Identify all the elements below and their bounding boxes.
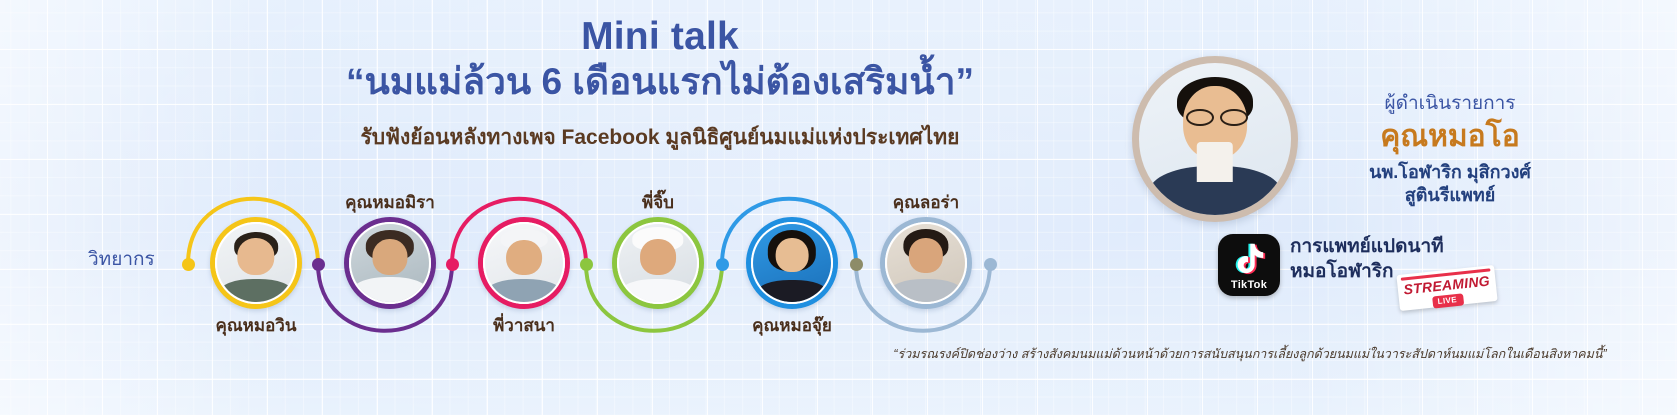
speaker-card-4[interactable]: พี่จิ๊บ xyxy=(612,217,704,309)
timeline-dot-6 xyxy=(850,258,863,271)
speaker-photo-4 xyxy=(617,222,699,304)
host-info-block: ผู้ดำเนินรายการ คุณหมอโอ นพ.โอฬาริก มุสิ… xyxy=(1300,88,1600,207)
speaker-photo-3 xyxy=(483,222,565,304)
timeline-dot-7 xyxy=(984,258,997,271)
speaker-card-5[interactable]: คุณหมอจุ๊ย xyxy=(746,217,838,309)
speaker-photo-1 xyxy=(215,222,297,304)
timeline-dot-2 xyxy=(312,258,325,271)
title-line-2: “นมแม่ล้วน 6 เดือนแรกไม่ต้องเสริมน้ำ” xyxy=(250,60,1070,104)
speaker-name-2: คุณหมอมิรา xyxy=(345,189,435,216)
host-specialty: สูตินรีแพทย์ xyxy=(1300,184,1600,207)
speaker-photo-6 xyxy=(885,222,967,304)
speaker-name-3: พี่วาสนา xyxy=(493,312,555,339)
speaker-name-4: พี่จิ๊บ xyxy=(642,189,674,216)
timeline-dot-3 xyxy=(446,258,459,271)
title-line-1: Mini talk xyxy=(250,16,1070,58)
timeline-dot-5 xyxy=(716,258,729,271)
speaker-name-1: คุณหมอวิน xyxy=(216,312,297,339)
headline-block: Mini talk “นมแม่ล้วน 6 เดือนแรกไม่ต้องเส… xyxy=(250,16,1070,154)
speaker-card-3[interactable]: พี่วาสนา xyxy=(478,217,570,309)
tiktok-logo[interactable]: TikTok xyxy=(1218,234,1280,296)
speaker-photo-2 xyxy=(349,222,431,304)
tiktok-channel-line-1: การแพทย์แปดนาที xyxy=(1290,234,1444,259)
host-role-label: ผู้ดำเนินรายการ xyxy=(1300,88,1600,118)
tiktok-wordmark: TikTok xyxy=(1218,279,1280,291)
host-avatar xyxy=(1132,56,1298,222)
speaker-name-6: คุณลอร่า xyxy=(893,189,959,216)
footer-caption: “ร่วมรณรงค์ปิดช่องว่าง สร้างสังคมนมแม่ด้… xyxy=(840,344,1660,364)
speaker-name-5: คุณหมอจุ๊ย xyxy=(752,312,832,339)
timeline-dot-1 xyxy=(182,258,195,271)
speaker-photo-5 xyxy=(751,222,833,304)
live-label: LIVE xyxy=(1432,293,1464,308)
promo-banner: Mini talk “นมแม่ล้วน 6 เดือนแรกไม่ต้องเส… xyxy=(0,0,1677,415)
tiktok-note-icon xyxy=(1218,238,1280,276)
speaker-card-2[interactable]: คุณหมอมิรา xyxy=(344,217,436,309)
speaker-card-1[interactable]: คุณหมอวิน xyxy=(210,217,302,309)
subtitle: รับฟังย้อนหลังทางเพจ Facebook มูลนิธิศูน… xyxy=(250,121,1070,154)
speakers-row: คุณหมอวิน คุณหมอมิรา xyxy=(0,185,1060,350)
speaker-card-6[interactable]: คุณลอร่า xyxy=(880,217,972,309)
host-full-name: นพ.โอฬาริก มุสิกวงศ์ xyxy=(1300,161,1600,184)
timeline-dot-4 xyxy=(580,258,593,271)
host-nickname: คุณหมอโอ xyxy=(1300,120,1600,155)
